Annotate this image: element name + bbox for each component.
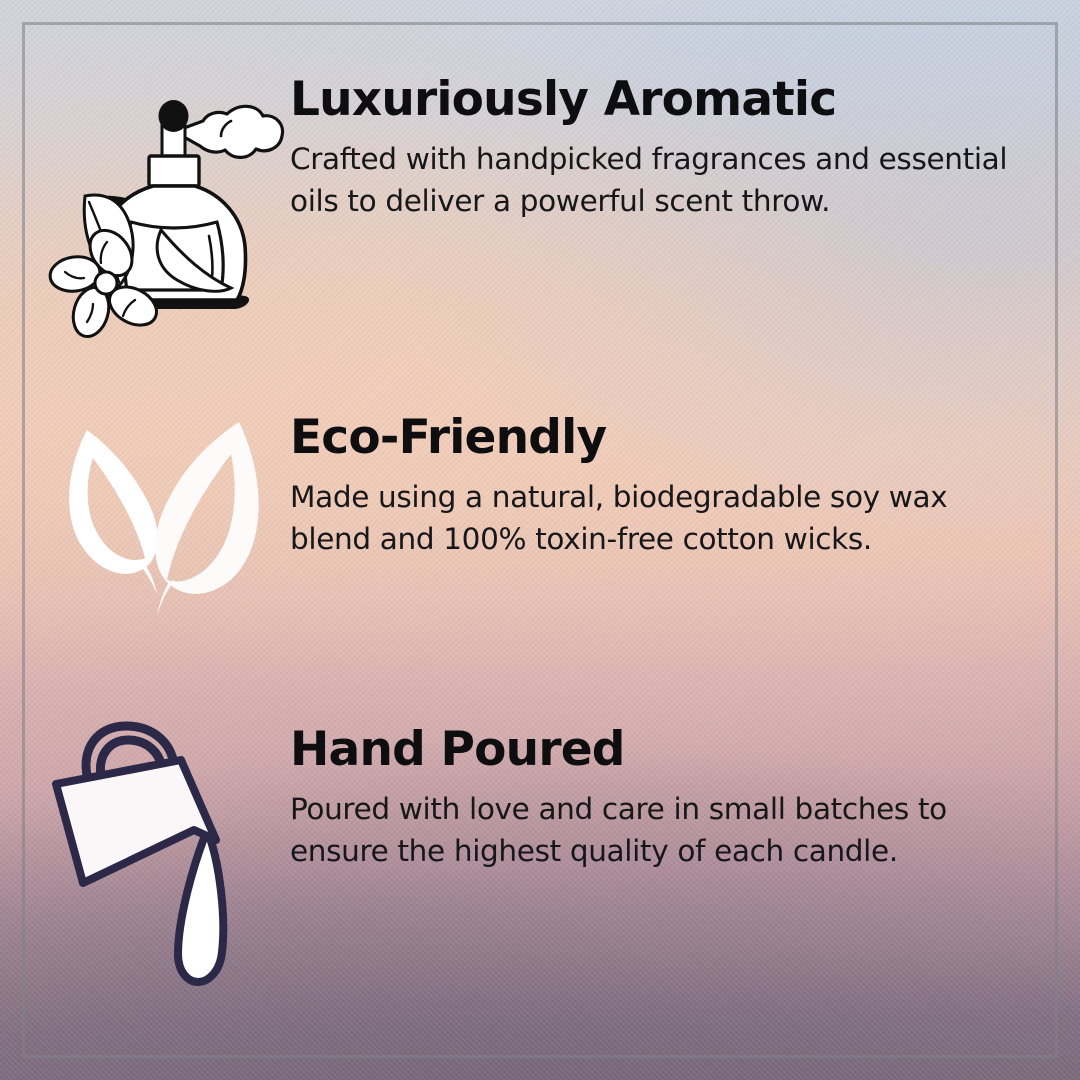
feature-description: Made using a natural, biodegradable soy …	[290, 477, 1035, 561]
feature-icon-wrapper	[40, 74, 290, 324]
perfume-bottle-icon	[49, 74, 281, 324]
feature-icon-wrapper	[40, 416, 290, 616]
feature-title: Luxuriously Aromatic	[290, 76, 1042, 123]
feature-text-block: Hand Poured Poured with love and care in…	[290, 712, 1042, 873]
feature-description: Crafted with handpicked fragrances and e…	[290, 139, 1035, 223]
feature-item-hand-poured: Hand Poured Poured with love and care in…	[40, 712, 1042, 988]
feature-description: Poured with love and care in small batch…	[290, 789, 1035, 873]
feature-title: Hand Poured	[290, 726, 1042, 773]
pouring-pitcher-icon	[50, 718, 280, 988]
feature-text-block: Luxuriously Aromatic Crafted with handpi…	[290, 72, 1042, 223]
feature-text-block: Eco-Friendly Made using a natural, biode…	[290, 400, 1042, 561]
feature-item-aromatic: Luxuriously Aromatic Crafted with handpi…	[40, 72, 1042, 324]
feature-title: Eco-Friendly	[290, 414, 1042, 461]
promo-card: Luxuriously Aromatic Crafted with handpi…	[0, 0, 1080, 1080]
feature-icon-wrapper	[40, 718, 290, 988]
feature-item-eco-friendly: Eco-Friendly Made using a natural, biode…	[40, 400, 1042, 616]
two-leaves-icon	[57, 416, 273, 616]
feature-list: Luxuriously Aromatic Crafted with handpi…	[0, 0, 1080, 1080]
